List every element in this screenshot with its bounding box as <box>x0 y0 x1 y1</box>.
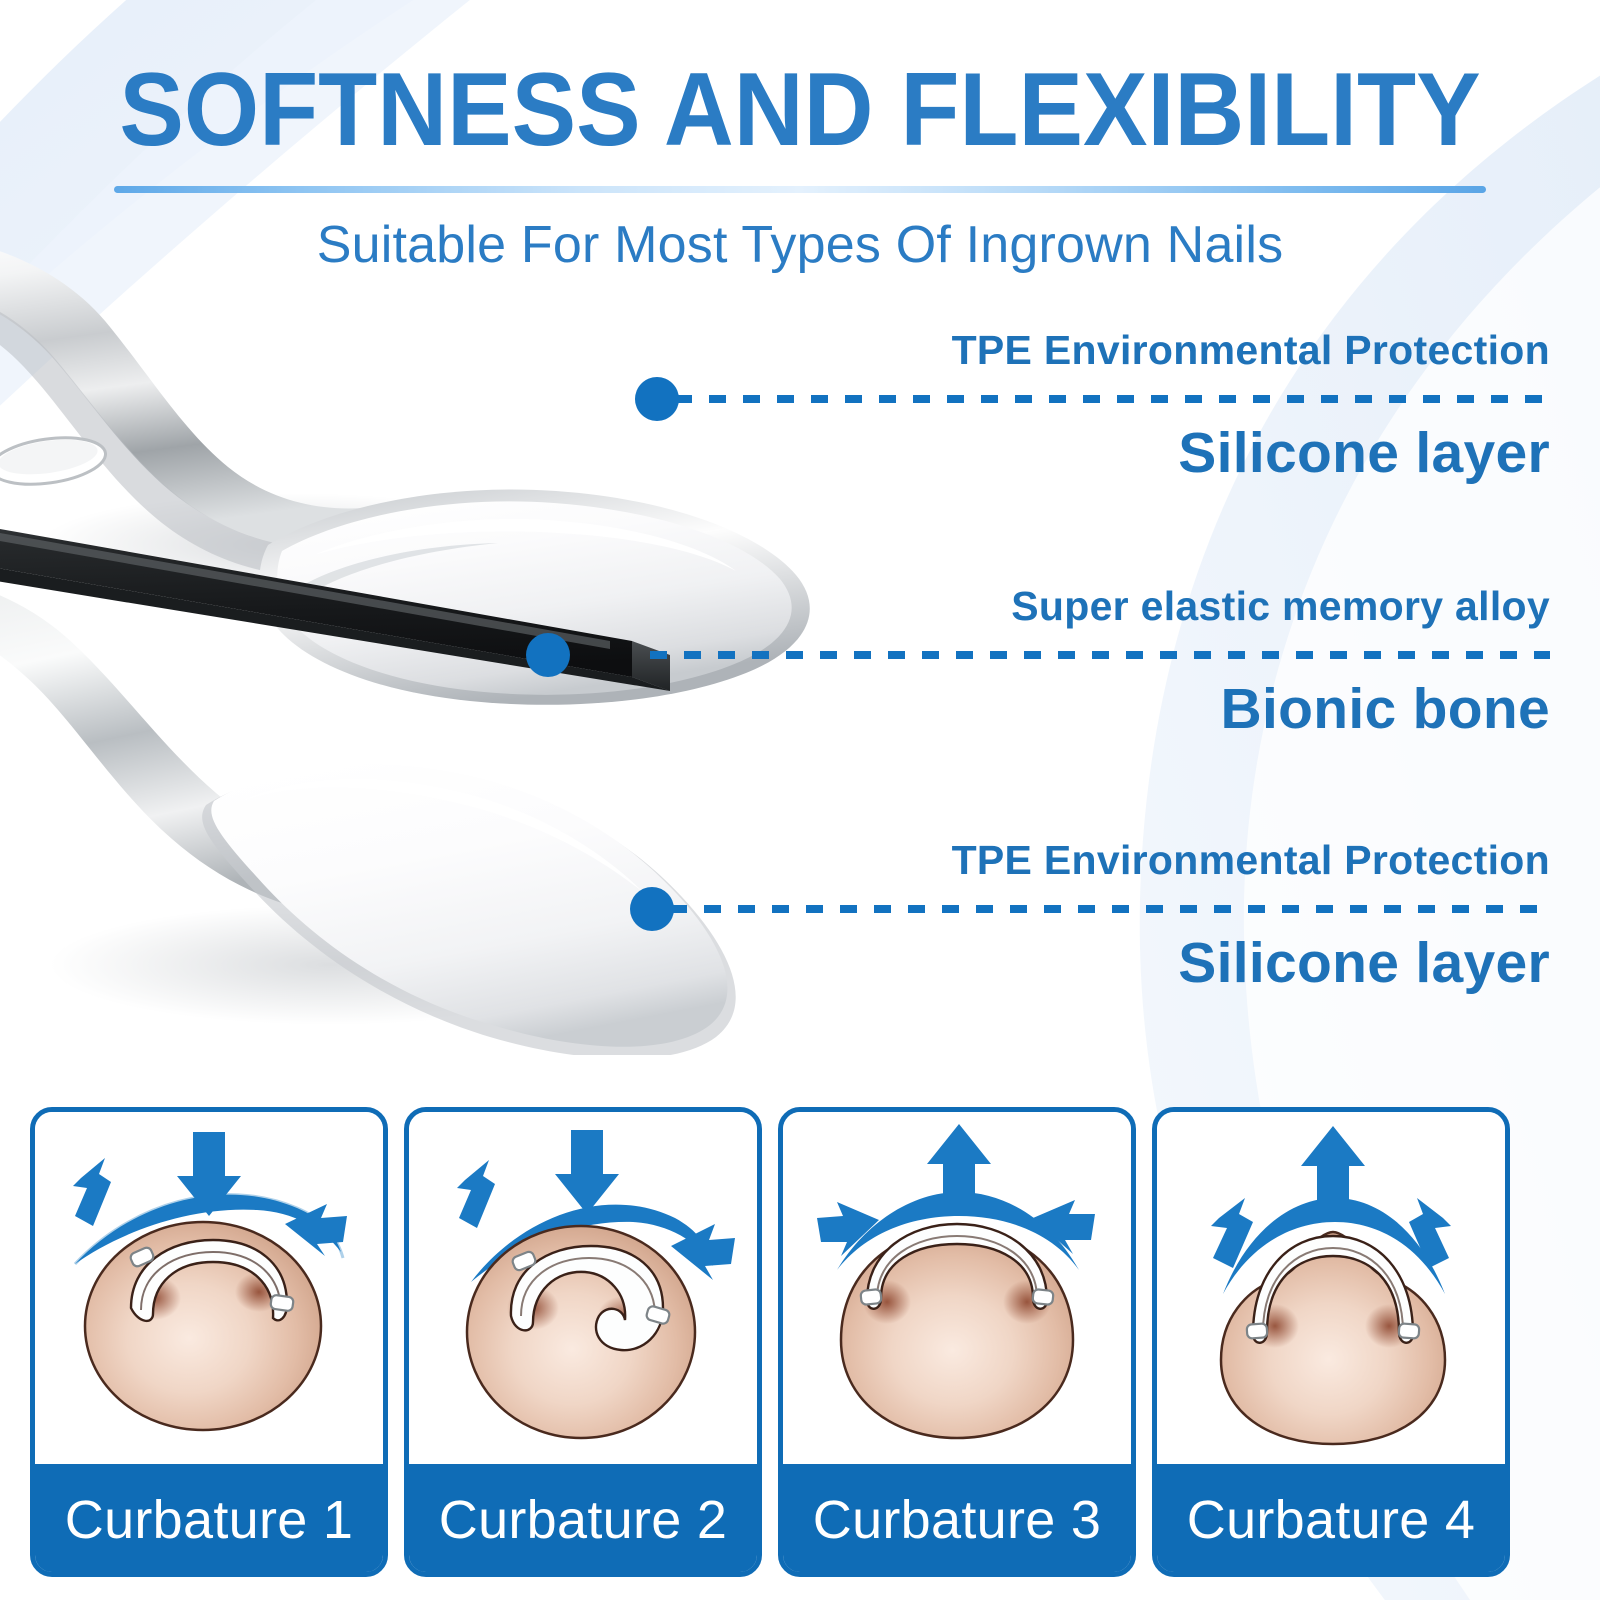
title-divider <box>114 186 1486 193</box>
page-title: SOFTNESS AND FLEXIBILITY <box>56 0 1544 162</box>
title-divider-wrap <box>114 186 1486 193</box>
callout-lower-silicone: TPE Environmental Protection Silicone la… <box>60 840 1550 992</box>
callout-dot-icon <box>635 377 679 421</box>
callout-bottom-label: Silicone layer <box>60 935 1550 992</box>
card-figure <box>35 1112 383 1464</box>
infographic-page: SOFTNESS AND FLEXIBILITY Suitable For Mo… <box>0 0 1600 1600</box>
callout-bottom-label: Bionic bone <box>60 681 1550 738</box>
card-figure <box>409 1112 757 1464</box>
page-subtitle: Suitable For Most Types Of Ingrown Nails <box>0 215 1600 275</box>
brace-clip-right <box>1032 1289 1053 1305</box>
card-curbature-2[interactable]: Curbature 2 <box>404 1107 762 1577</box>
card-figure <box>783 1112 1131 1464</box>
card-curbature-1[interactable]: Curbature 1 <box>30 1107 388 1577</box>
card-label-3: Curbature 3 <box>783 1464 1131 1576</box>
arrow-down-icon <box>555 1130 619 1214</box>
card-label-4: Curbature 4 <box>1157 1464 1505 1576</box>
callout-top-label: TPE Environmental Protection <box>60 840 1550 881</box>
curvature-card-row: Curbature 1 <box>30 1107 1570 1577</box>
arrow-up-left-icon <box>73 1158 111 1226</box>
card-label-2: Curbature 2 <box>409 1464 757 1576</box>
arrow-up-left-icon <box>457 1160 495 1228</box>
callout-top-label: TPE Environmental Protection <box>60 330 1550 371</box>
callout-connector <box>60 641 1550 669</box>
brace-clip-left <box>860 1289 881 1305</box>
nail-illustration-3 <box>783 1112 1131 1464</box>
callout-dashed-line <box>675 395 1550 403</box>
callout-dashed-line <box>670 905 1550 913</box>
toe-shape <box>841 1230 1073 1438</box>
callout-memory-alloy: Super elastic memory alloy Bionic bone <box>60 586 1550 738</box>
card-curbature-3[interactable]: Curbature 3 <box>778 1107 1136 1577</box>
card-curbature-4[interactable]: Curbature 4 <box>1152 1107 1510 1577</box>
header: SOFTNESS AND FLEXIBILITY Suitable For Mo… <box>0 0 1600 275</box>
callout-connector <box>60 895 1550 923</box>
brace-clip-right <box>270 1295 294 1312</box>
arrow-left-icon <box>817 1202 879 1256</box>
callout-dot-icon <box>630 887 674 931</box>
card-figure <box>1157 1112 1505 1464</box>
callout-upper-silicone: TPE Environmental Protection Silicone la… <box>60 330 1550 482</box>
nail-illustration-4 <box>1157 1112 1505 1464</box>
card-label-1: Curbature 1 <box>35 1464 383 1576</box>
callout-bottom-label: Silicone layer <box>60 425 1550 482</box>
callout-dot-icon <box>526 633 570 677</box>
brace-clip-left <box>1247 1323 1268 1338</box>
nail-illustration-2 <box>409 1112 757 1464</box>
arrow-up-icon <box>1301 1126 1365 1212</box>
nail-illustration-1 <box>35 1112 383 1464</box>
brace-clip-right <box>1399 1323 1420 1338</box>
callout-dashed-line <box>650 651 1550 659</box>
callout-connector <box>60 385 1550 413</box>
callout-top-label: Super elastic memory alloy <box>60 586 1550 627</box>
arrow-up-right-icon <box>1409 1198 1451 1268</box>
